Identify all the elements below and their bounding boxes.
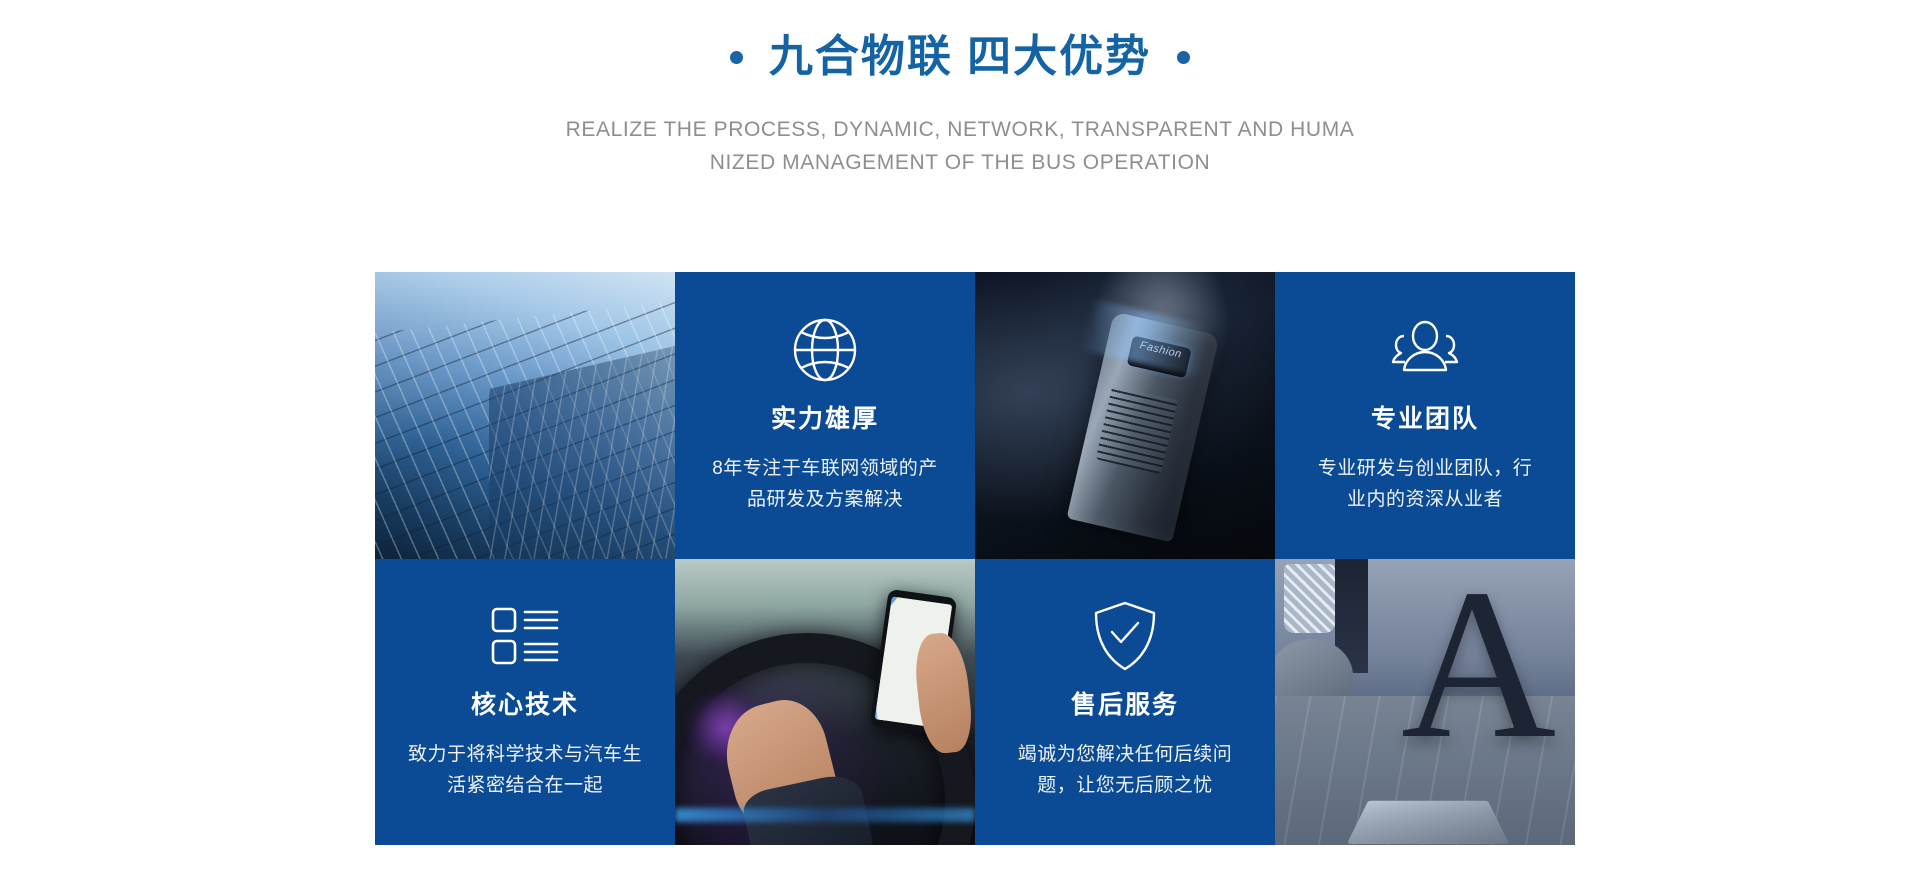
feature-card-after-sales[interactable]: 售后服务 竭诚为您解决任何后续问 题，让您无后顾之忧 [975,559,1275,846]
bullet-dot-left-icon [730,51,743,64]
grid-cell-interior: A [1275,559,1575,846]
globe-icon [789,307,861,393]
feature-title-after-sales: 售后服务 [1071,693,1179,718]
section-subtitle: REALIZE THE PROCESS, DYNAMIC, NETWORK, T… [0,114,1920,179]
reflective-tray [1347,801,1510,845]
advantages-section: 九合物联 四大优势 REALIZE THE PROCESS, DYNAMIC, … [0,0,1920,894]
page-title: 九合物联 四大优势 [0,26,1920,88]
feature-desc-core-tech-line2: 活紧密结合在一起 [408,771,642,802]
feature-card-core-tech[interactable]: 核心技术 致力于将科学技术与汽车生 活紧密结合在一起 [375,559,675,846]
letter-a-decor: A [1401,567,1556,761]
grid-cell-driving [675,559,975,846]
feature-desc-after-sales-line2: 题，让您无后顾之忧 [1018,771,1233,802]
driving-navigation-photo [675,559,975,846]
feature-desc-team: 专业研发与创业团队，行 业内的资深从业者 [1318,454,1533,516]
shield-check-icon [1092,593,1158,679]
car-device-photo: Fashion [975,272,1275,559]
bullet-dot-right-icon [1177,51,1190,64]
section-title-text: 九合物联 四大优势 [769,35,1151,79]
feature-desc-strength-line2: 品研发及方案解决 [712,485,938,516]
grid-cell-car-device: Fashion [975,272,1275,559]
feature-desc-strength: 8年专注于车联网领域的产 品研发及方案解决 [712,454,938,516]
feature-desc-core-tech: 致力于将科学技术与汽车生 活紧密结合在一起 [408,740,642,802]
subtitle-line-1: REALIZE THE PROCESS, DYNAMIC, NETWORK, T… [0,114,1920,147]
feature-desc-after-sales-line1: 竭诚为您解决任何后续问 [1018,740,1233,771]
feature-desc-team-line1: 专业研发与创业团队，行 [1318,454,1533,485]
ambient-light [675,808,975,822]
feature-title-core-tech: 核心技术 [471,693,579,718]
feature-title-team: 专业团队 [1371,407,1479,432]
team-icon [1384,307,1466,393]
glass-skyscraper-photo [375,272,675,559]
feature-desc-team-line2: 业内的资深从业者 [1318,485,1533,516]
patterned-vase [1284,564,1335,633]
section-header: 九合物联 四大优势 REALIZE THE PROCESS, DYNAMIC, … [0,0,1920,179]
grid-cell-skyscraper [375,272,675,559]
right-hand [912,631,975,756]
subtitle-line-2: NIZED MANAGEMENT OF THE BUS OPERATION [0,147,1920,180]
feature-desc-core-tech-line1: 致力于将科学技术与汽车生 [408,740,642,771]
feature-desc-after-sales: 竭诚为您解决任何后续问 题，让您无后顾之忧 [1018,740,1233,802]
feature-title-strength: 实力雄厚 [771,407,879,432]
feature-card-strength[interactable]: 实力雄厚 8年专注于车联网领域的产 品研发及方案解决 [675,272,975,559]
advantages-grid: 实力雄厚 8年专注于车联网领域的产 品研发及方案解决 Fashion [375,272,1575,845]
feature-desc-strength-line1: 8年专注于车联网领域的产 [712,454,938,485]
checklist-icon [489,593,561,679]
feature-card-team[interactable]: 专业团队 专业研发与创业团队，行 业内的资深从业者 [1275,272,1575,559]
interior-letter-a-photo: A [1275,559,1575,846]
